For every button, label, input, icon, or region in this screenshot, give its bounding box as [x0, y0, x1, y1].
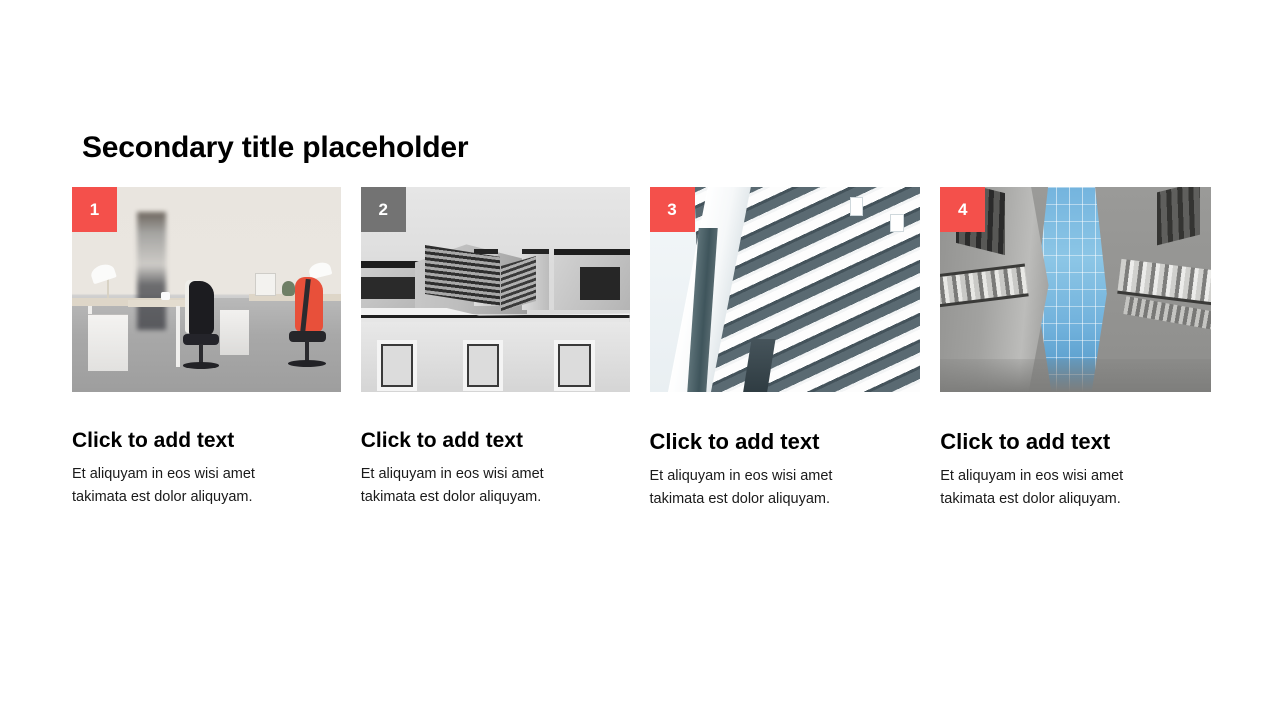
office-monitor — [255, 273, 277, 296]
card-body-text[interactable]: Et aliquyam in eos wisi amet takimata es… — [940, 465, 1165, 510]
building-base-shadow — [940, 359, 1211, 392]
office-chair-dark — [180, 281, 223, 375]
roof-box-right — [554, 249, 629, 311]
office-pedestal-front — [88, 314, 128, 371]
chair-back — [189, 281, 214, 336]
office-cup — [161, 292, 170, 300]
chair-base — [183, 362, 219, 369]
card-heading[interactable]: Click to add text — [72, 429, 341, 452]
content-card[interactable]: 3 Click to add text Et aliquyam in eos w… — [650, 187, 921, 510]
content-card[interactable]: 1 — [72, 187, 341, 510]
presentation-slide: Secondary title placeholder 1 — [0, 0, 1280, 720]
card-grid: 1 — [72, 187, 1211, 510]
chair-stem — [305, 340, 309, 362]
card-number-badge: 1 — [72, 187, 117, 232]
card-number-badge: 3 — [650, 187, 695, 232]
black-and-white-building-rooftop-photo: 2 — [361, 187, 630, 392]
office-chair-red — [284, 277, 330, 375]
office-pedestal-back — [220, 310, 250, 355]
facade-window — [463, 340, 503, 390]
card-body-text[interactable]: Et aliquyam in eos wisi amet takimata es… — [361, 463, 576, 508]
facade-rail — [890, 214, 904, 232]
skyward-atrium-photo: 4 — [940, 187, 1211, 392]
page-title: Secondary title placeholder — [82, 131, 468, 165]
office-lamp-front — [89, 262, 117, 285]
chair-base — [288, 360, 326, 367]
card-heading[interactable]: Click to add text — [650, 430, 921, 454]
building-facade — [361, 322, 630, 392]
content-card[interactable]: 4 Click to add text Et aliquyam in eos w… — [940, 187, 1211, 510]
roof-louvre-right — [501, 256, 536, 311]
facade-window — [554, 340, 594, 390]
open-plan-office-photo: 1 — [72, 187, 341, 392]
card-number-badge: 4 — [940, 187, 985, 232]
facade-rail — [850, 197, 864, 215]
card-heading[interactable]: Click to add text — [361, 429, 630, 452]
facade-window — [377, 340, 417, 390]
roof-window — [361, 277, 421, 299]
chair-stem — [199, 344, 203, 365]
content-card[interactable]: 2 Click to add — [361, 187, 630, 510]
roof-window — [580, 267, 620, 300]
card-body-text[interactable]: Et aliquyam in eos wisi amet takimata es… — [72, 463, 287, 508]
white-slatted-facade-photo: 3 — [650, 187, 921, 392]
card-body-text[interactable]: Et aliquyam in eos wisi amet takimata es… — [650, 465, 875, 510]
card-heading[interactable]: Click to add text — [940, 430, 1211, 454]
card-number-badge: 2 — [361, 187, 406, 232]
